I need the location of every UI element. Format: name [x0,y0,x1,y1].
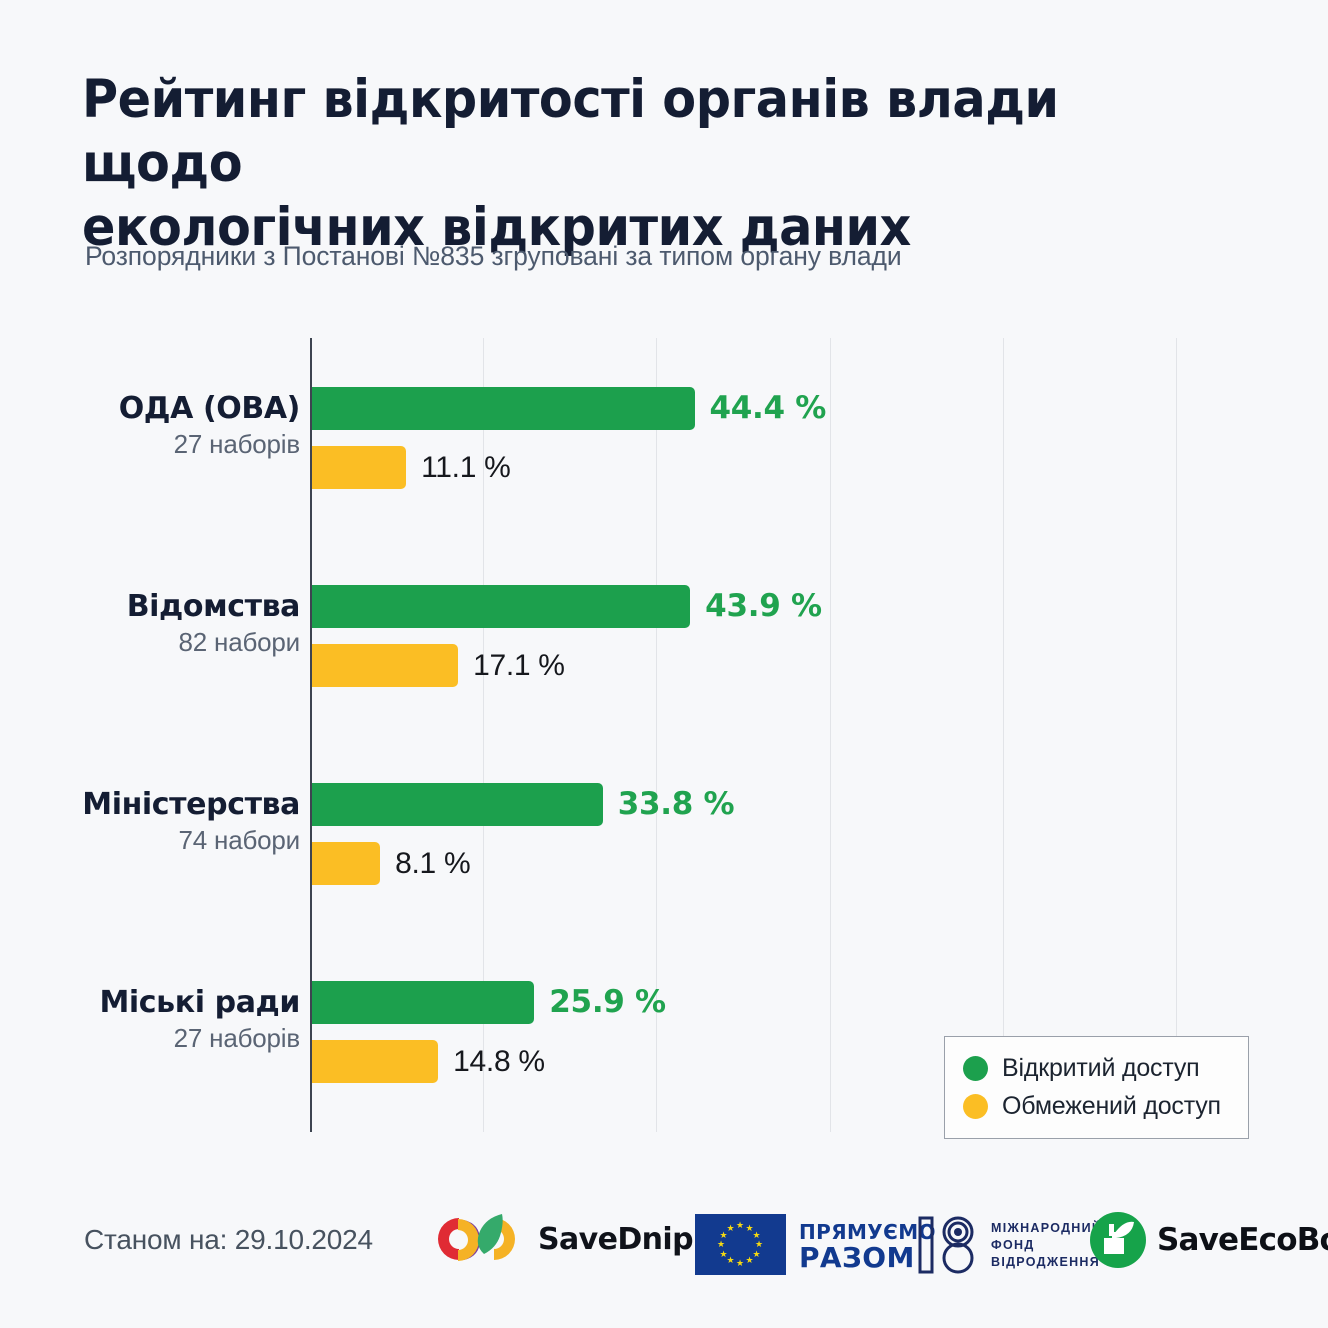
gridline [830,338,831,1132]
eu-star-icon: ★ [717,1240,725,1249]
eu-star-icon: ★ [727,1256,735,1265]
legend-label-restricted: Обмежений доступ [1002,1092,1221,1121]
bar-restricted[interactable] [310,842,380,885]
bar-restricted[interactable] [310,446,406,489]
gridline [1003,338,1004,1132]
eu-flag-icon: ★★★★★★★★★★★★ [695,1214,786,1275]
eu-prямuemo-razom-logo: ★★★★★★★★★★★★ ПРЯМУЄМО РАЗОМ [695,1214,936,1275]
bar-value-label: 33.8 % [618,783,735,826]
savednipro-mark-icon [428,1212,525,1267]
bar-value-label: 17.1 % [473,644,565,687]
category-label: Відомства82 набори [0,589,300,659]
gridline [1176,338,1177,1132]
eu-star-icon: ★ [727,1224,735,1233]
bar-open[interactable] [310,981,534,1024]
eu-wordmark: ПРЯМУЄМО РАЗОМ [799,1220,936,1270]
category-count: 82 набори [0,625,300,659]
eu-star-icon: ★ [720,1250,728,1259]
legend-item-restricted[interactable]: Обмежений доступ [963,1087,1232,1125]
eu-line2: РАЗОМ [799,1245,936,1270]
irf-logo: МІЖНАРОДНИЙ ФОНД ВІДРОДЖЕННЯ [918,1216,1102,1274]
category-count: 74 набори [0,823,300,857]
category-name: ОДА (ОВА) [0,391,300,427]
legend-color-swatch-open [963,1056,988,1081]
legend-item-open[interactable]: Відкритий доступ [963,1049,1232,1087]
irf-wordmark: МІЖНАРОДНИЙ ФОНД ВІДРОДЖЕННЯ [991,1220,1102,1271]
bar-restricted[interactable] [310,1040,438,1083]
category-name: Міністерства [0,787,300,823]
bar-open[interactable] [310,585,690,628]
y-axis-line [310,338,312,1132]
as-of-date: Станом на: 29.10.2024 [84,1224,373,1256]
bar-open[interactable] [310,783,603,826]
irf-line1: МІЖНАРОДНИЙ [991,1220,1102,1237]
eu-star-icon: ★ [736,1259,744,1268]
bar-restricted[interactable] [310,644,458,687]
chart-legend: Відкритий доступ Обмежений доступ [944,1036,1249,1139]
category-name: Відомства [0,589,300,625]
legend-label-open: Відкритий доступ [1002,1054,1200,1083]
eu-star-icon: ★ [752,1250,760,1259]
bar-value-label: 25.9 % [549,981,666,1024]
saveecobot-wordmark: SaveEcoBot [1157,1222,1328,1258]
category-count: 27 наборів [0,427,300,461]
eu-star-icon: ★ [755,1240,763,1249]
legend-color-swatch-restricted [963,1094,988,1119]
category-count: 27 наборів [0,1021,300,1055]
bar-value-label: 8.1 % [395,842,470,885]
category-label: Міністерства74 набори [0,787,300,857]
footer: Станом на: 29.10.2024 SaveDnipro ★★★★★★★… [0,1196,1328,1306]
bar-open[interactable] [310,387,695,430]
plot-area: 44.4 %11.1 %43.9 %17.1 %33.8 %8.1 %25.9 … [310,338,1193,1132]
irf-line3: ВІДРОДЖЕННЯ [991,1254,1102,1271]
infographic-page: Рейтинг відкритості органів влади щодо е… [0,0,1328,1328]
category-label: ОДА (ОВА)27 наборів [0,391,300,461]
bar-value-label: 44.4 % [710,387,827,430]
irf-mark-icon [918,1216,980,1274]
eu-star-icon: ★ [736,1221,744,1230]
bar-value-label: 14.8 % [453,1040,545,1083]
category-label: Міські ради27 наборів [0,985,300,1055]
eu-star-icon: ★ [746,1256,754,1265]
bar-value-label: 11.1 % [421,446,510,489]
saveecobot-logo: SaveEcoBot [1090,1212,1328,1268]
category-name: Міські ради [0,985,300,1021]
savednipro-logo: SaveDnipro [428,1212,727,1267]
irf-line2: ФОНД [991,1237,1102,1254]
bar-value-label: 43.9 % [705,585,822,628]
saveecobot-mark-icon [1090,1212,1146,1268]
